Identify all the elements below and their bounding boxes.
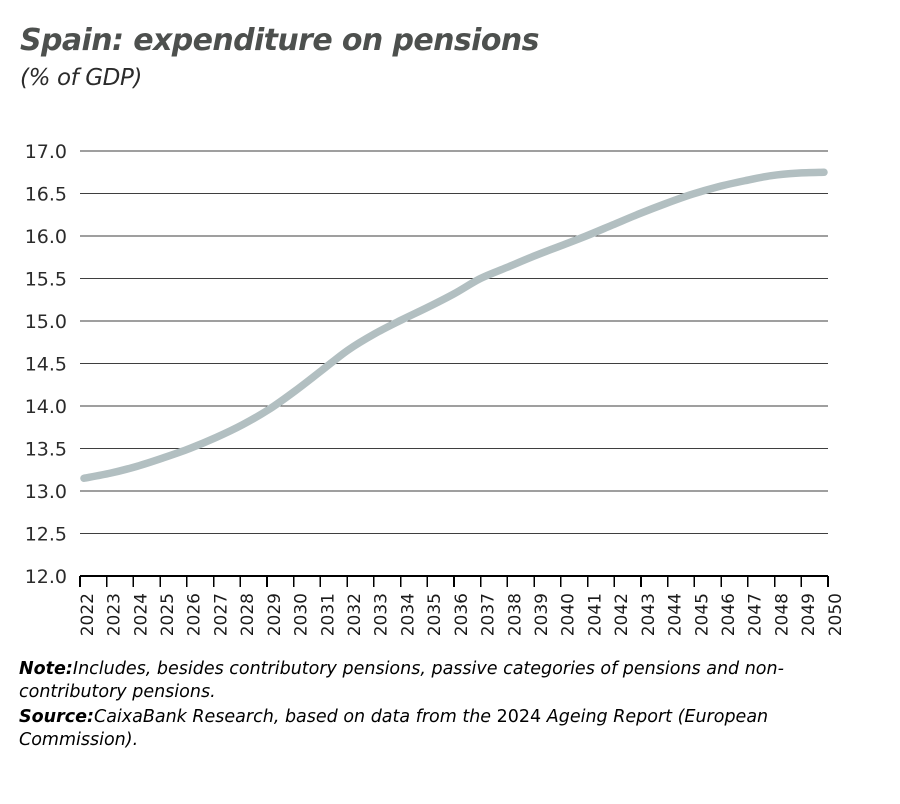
y-axis-tick-label: 16.5 [25, 184, 67, 206]
x-axis-tick-label: 2039 [532, 593, 552, 636]
source-line: Source:CaixaBank Research, based on data… [19, 706, 819, 753]
y-axis-tick-label: 14.0 [25, 396, 67, 418]
x-axis-tick-label: 2022 [78, 593, 98, 636]
x-axis-tick-label: 2023 [105, 593, 125, 636]
x-axis-tick-label: 2026 [185, 593, 205, 636]
x-axis-tick-label: 2029 [265, 593, 285, 636]
y-axis-tick-label: 16.0 [25, 226, 67, 248]
y-axis-tick-label: 12.5 [25, 524, 67, 546]
x-axis-tick-label: 2032 [345, 593, 365, 636]
x-axis-tick-label: 2035 [425, 593, 445, 636]
x-axis-tick-label: 2028 [238, 593, 258, 636]
chart-plot-area: 12.012.513.013.514.014.515.015.516.016.5… [0, 0, 900, 660]
x-axis-tick-label: 2027 [211, 593, 231, 636]
y-axis-tick-label: 12.0 [25, 566, 67, 588]
footnotes: Note:Includes, besides contributory pens… [19, 658, 819, 753]
note-text: Includes, besides contributory pensions,… [19, 659, 784, 702]
x-axis-tick-label: 2041 [585, 593, 605, 636]
note-line: Note:Includes, besides contributory pens… [19, 658, 819, 705]
y-axis-tick-label: 14.5 [25, 354, 67, 376]
y-axis-tick-label: 15.0 [25, 311, 67, 333]
x-axis [80, 576, 828, 587]
x-axis-tick-label: 2025 [158, 593, 178, 636]
line-chart-svg: 12.012.513.013.514.014.515.015.516.016.5… [0, 0, 900, 660]
data-series-group [84, 172, 824, 478]
note-label: Note: [19, 659, 73, 679]
x-axis-tick-label: 2036 [452, 593, 472, 636]
y-axis-tick-labels: 12.012.513.013.514.014.515.015.516.016.5… [25, 141, 67, 588]
gridline-group [80, 151, 828, 534]
x-axis-tick-label: 2030 [292, 593, 312, 636]
x-axis-tick-label: 2034 [398, 593, 418, 636]
x-axis-tick-label: 2042 [612, 593, 632, 636]
x-axis-tick-label: 2044 [666, 593, 686, 636]
x-axis-tick-label: 2024 [131, 593, 151, 636]
x-axis-tick-label: 2045 [692, 593, 712, 636]
source-label: Source: [19, 707, 94, 727]
x-axis-tick-label: 2031 [318, 593, 338, 636]
x-axis-tick-labels: 2022202320242025202620272028202920302031… [78, 593, 846, 636]
x-axis-tick-label: 2043 [639, 593, 659, 636]
series-line [84, 172, 824, 478]
y-axis-tick-label: 17.0 [25, 141, 67, 163]
y-axis-tick-label: 13.0 [25, 481, 67, 503]
x-axis-tick-label: 2049 [799, 593, 819, 636]
source-text-a: CaixaBank Research, based on data from t… [94, 707, 497, 727]
figure-root: Spain: expenditure on pensions (% of GDP… [0, 0, 900, 804]
x-axis-tick-label: 2048 [772, 593, 792, 636]
x-axis-tick-label: 2047 [746, 593, 766, 636]
x-axis-tick-label: 2046 [719, 593, 739, 636]
x-axis-tick-label: 2037 [479, 593, 499, 636]
x-axis-tick-label: 2050 [826, 593, 846, 636]
y-axis-tick-label: 13.5 [25, 439, 67, 461]
y-axis-tick-label: 15.5 [25, 269, 67, 291]
source-year: 2024 [497, 707, 542, 727]
x-axis-tick-label: 2040 [559, 593, 579, 636]
x-axis-tick-label: 2038 [505, 593, 525, 636]
x-axis-tick-label: 2033 [372, 593, 392, 636]
